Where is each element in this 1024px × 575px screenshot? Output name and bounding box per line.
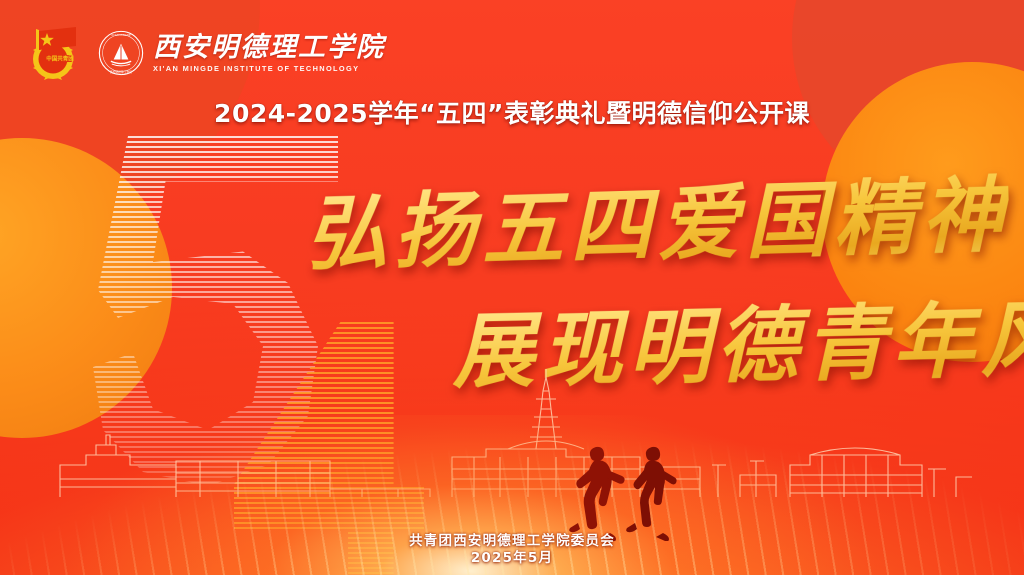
header-logos: 中国共青团 XI'AN MINGDE 西安明德理工学院 西安明德理工学院 XI bbox=[24, 24, 385, 82]
running-youth-silhouettes bbox=[556, 441, 696, 541]
svg-text:西安明德理工学院: 西安明德理工学院 bbox=[110, 70, 132, 74]
communist-youth-league-emblem: 中国共青团 bbox=[24, 24, 84, 82]
footer-block: 共青团西安明德理工学院委员会 2025年5月 bbox=[0, 533, 1024, 567]
school-seal-icon: XI'AN MINGDE 西安明德理工学院 bbox=[98, 30, 144, 76]
school-name-block: 西安明德理工学院 XI'AN MINGDE INSTITUTE OF TECHN… bbox=[153, 34, 385, 72]
school-name-en: XI'AN MINGDE INSTITUTE OF TECHNOLOGY bbox=[153, 65, 385, 72]
school-name-cn: 西安明德理工学院 bbox=[153, 34, 385, 61]
svg-text:XI'AN MINGDE: XI'AN MINGDE bbox=[111, 33, 131, 37]
school-identity: XI'AN MINGDE 西安明德理工学院 西安明德理工学院 XI'AN MIN… bbox=[98, 30, 385, 76]
footer-date: 2025年5月 bbox=[0, 550, 1024, 567]
main-title-line-1: 弘扬五四爱国精神 bbox=[303, 148, 1010, 287]
campus-skyline-outline bbox=[0, 369, 1024, 519]
event-subtitle: 2024-2025学年“五四”表彰典礼暨明德信仰公开课 bbox=[0, 94, 1024, 130]
footer-organization: 共青团西安明德理工学院委员会 bbox=[0, 533, 1024, 550]
poster-canvas: 中国共青团 XI'AN MINGDE 西安明德理工学院 西安明德理工学院 XI bbox=[0, 0, 1024, 575]
